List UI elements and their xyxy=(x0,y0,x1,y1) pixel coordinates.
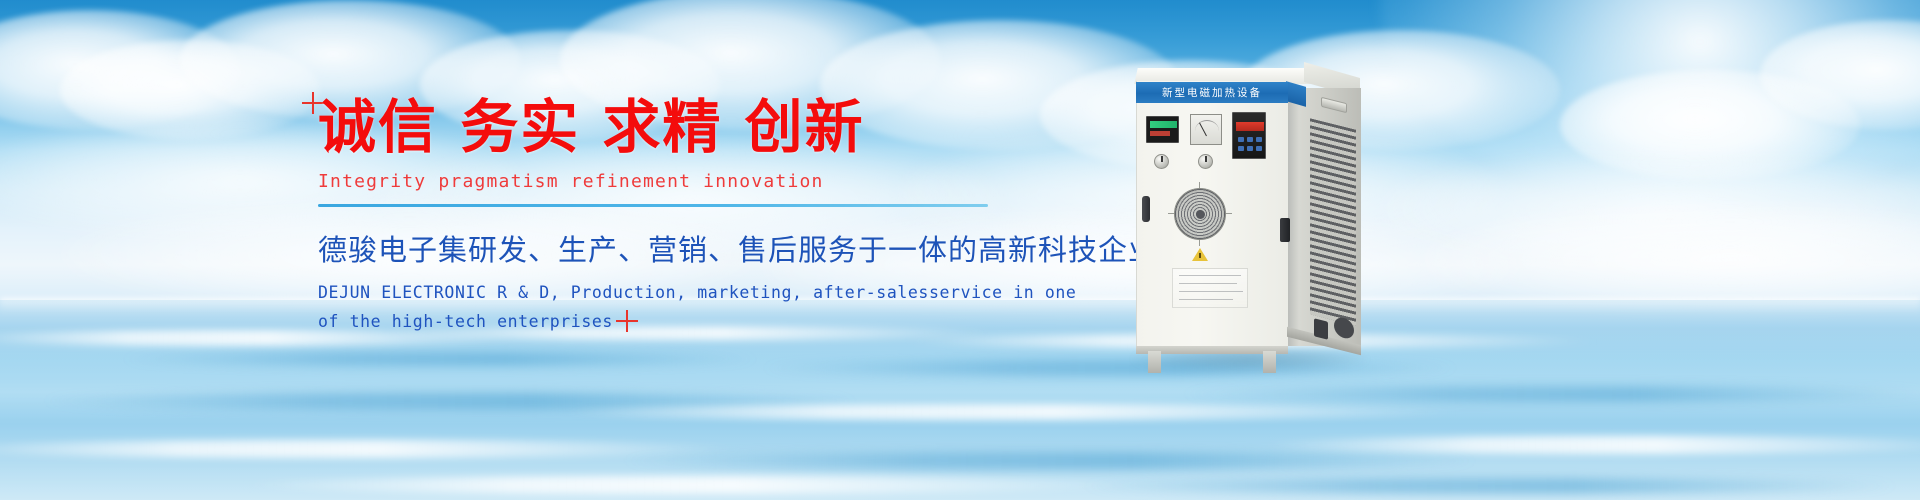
banner-headline-en: Integrity pragmatism refinement innovati… xyxy=(318,171,1018,192)
meter-scale xyxy=(1195,120,1219,131)
hero-banner: 诚信 务实 求精 创新 Integrity pragmatism refinem… xyxy=(0,0,1920,500)
machine-side-shadow xyxy=(1287,88,1299,346)
machine-knob-left xyxy=(1154,154,1169,169)
machine-digital-display xyxy=(1146,116,1179,143)
headline-divider xyxy=(318,204,988,207)
keypad-readout xyxy=(1236,122,1264,131)
machine-spec-plate xyxy=(1172,268,1248,308)
machine-knob-right xyxy=(1198,154,1213,169)
machine-feet xyxy=(1148,351,1276,373)
machine-vent-grille xyxy=(1310,118,1356,325)
machine-door-latch xyxy=(1280,218,1290,242)
machine-analog-meter xyxy=(1190,114,1222,145)
warning-triangle-icon xyxy=(1192,248,1208,261)
banner-text-block: 诚信 务实 求精 创新 Integrity pragmatism refinem… xyxy=(318,96,1018,336)
wave-shadow xyxy=(1180,386,1920,402)
banner-headline-cn: 诚信 务实 求精 创新 xyxy=(318,96,1018,159)
keypad-button xyxy=(1238,146,1244,151)
keypad-button xyxy=(1247,137,1253,142)
banner-tagline-en-line2: of the high-tech enterprises xyxy=(318,308,1018,337)
machine-keypad xyxy=(1232,112,1266,159)
spec-line xyxy=(1179,291,1243,292)
banner-tagline-en-line1: DEJUN ELECTRONIC R & D, Production, mark… xyxy=(318,279,1018,308)
spec-line xyxy=(1179,299,1233,300)
keypad-button xyxy=(1238,137,1244,142)
keypad-button xyxy=(1256,146,1262,151)
wave-shadow xyxy=(1080,478,1900,494)
banner-tagline-cn: 德骏电子集研发、生产、营销、售后服务于一体的高新科技企业 xyxy=(318,227,1018,269)
display-segment-green xyxy=(1150,121,1177,128)
machine-label-text: 新型电磁加热设备 xyxy=(1136,82,1288,103)
keypad-button xyxy=(1247,146,1253,151)
product-machine-image: 新型电磁加热设备 xyxy=(1128,68,1368,368)
machine-foot xyxy=(1263,351,1276,373)
machine-door-hinge xyxy=(1142,196,1150,222)
wave-highlight xyxy=(240,476,1140,494)
machine-foot xyxy=(1148,351,1161,373)
wave-shadow xyxy=(120,352,760,366)
spec-line xyxy=(1179,283,1237,284)
wave-shadow xyxy=(620,452,1480,470)
machine-side-port xyxy=(1314,318,1328,339)
display-segment-red xyxy=(1150,131,1170,136)
keypad-button xyxy=(1256,137,1262,142)
machine-cooling-fan xyxy=(1174,188,1226,240)
spec-line xyxy=(1179,275,1241,276)
wave-highlight xyxy=(560,404,1460,420)
